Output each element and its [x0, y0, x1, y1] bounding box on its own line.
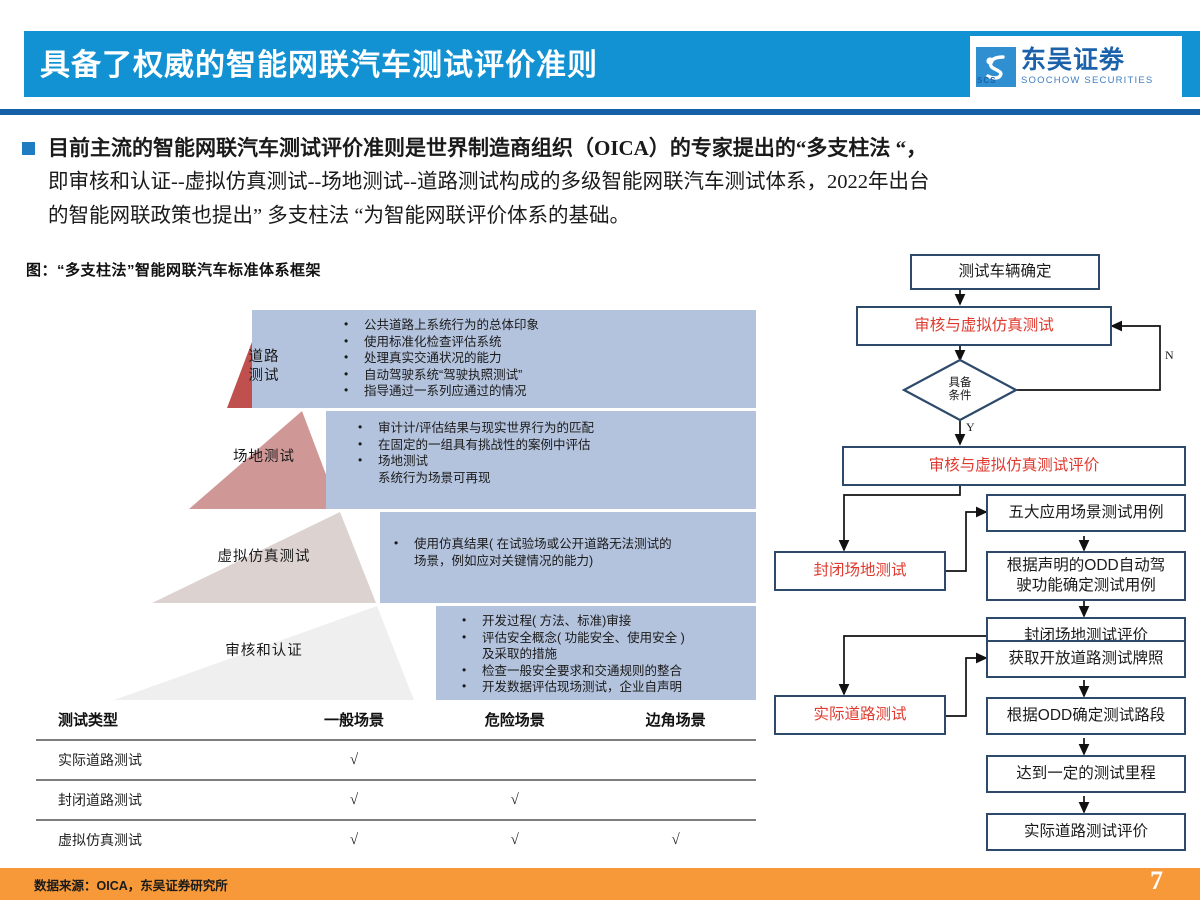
cell-type: 虚拟仿真测试 [36, 820, 274, 859]
decision-label-line2: 条件 [949, 390, 972, 403]
flow-node-mileage[interactable]: 达到一定的测试里程 [986, 755, 1186, 793]
cell-general: √ [274, 740, 435, 780]
flow-node-odd-segment[interactable]: 根据ODD确定测试路段 [986, 697, 1186, 735]
list-item: 使用仿真结果( 在试验场或公开道路无法测试的 [388, 536, 748, 553]
list-item: 开发过程( 方法、标准)审接 [456, 613, 756, 630]
column-header-danger: 危险场景 [434, 703, 595, 740]
paragraph-line-3: 的智能网联政策也提出” 多支柱法 “为智能网联评价体系的基础。 [48, 199, 1168, 233]
cell-corner [595, 780, 756, 820]
odd-cases-line1: 根据声明的ODD自动驾 [1007, 556, 1165, 576]
list-item: 开发数据评估现场测试，企业自声明 [456, 679, 756, 696]
list-item: 系统行为场景可再现 [352, 470, 752, 487]
flow-node-five-scenarios[interactable]: 五大应用场景测试用例 [986, 494, 1186, 532]
list-item: 使用标准化检查评估系统 [338, 334, 748, 351]
cell-danger: √ [434, 780, 595, 820]
flow-node-license[interactable]: 获取开放道路测试牌照 [986, 640, 1186, 678]
pyramid-level-3-points: 使用仿真结果( 在试验场或公开道路无法测试的 场景，例如应对关键情况的能力) [388, 536, 748, 569]
brand-logo: 东吴证劵 SOOCHOW SECURITIES [970, 36, 1182, 98]
page-number: 7 [1150, 866, 1163, 896]
footer-source: 数据来源：OICA，东吴证券研究所 [34, 875, 228, 894]
table-row: 封闭道路测试 √ √ [36, 780, 756, 820]
cell-danger: √ [434, 820, 595, 859]
flow-node-vehicle[interactable]: 测试车辆确定 [910, 254, 1100, 290]
flow-node-odd-cases[interactable]: 根据声明的ODD自动驾 驶功能确定测试用例 [986, 551, 1186, 601]
cell-general: √ [274, 820, 435, 859]
brand-name-en: SOOCHOW SECURITIES [1021, 76, 1153, 86]
cell-general: √ [274, 780, 435, 820]
list-item: 处理真实交通状况的能力 [338, 350, 748, 367]
column-header-type: 测试类型 [36, 703, 274, 740]
list-item: 检查一般安全要求和交通规则的整合 [456, 663, 756, 680]
slide-root: 具备了权威的智能网联汽车测试评价准则 东吴证劵 SOOCHOW SECURITI… [0, 0, 1200, 900]
cell-corner [595, 740, 756, 780]
odd-cases-line2: 驶功能确定测试用例 [1016, 576, 1156, 596]
flow-node-audit-sim-test[interactable]: 审核与虚拟仿真测试 [856, 306, 1112, 346]
figure-caption: 图：“多支柱法”智能网联汽车标准体系框架 [26, 259, 321, 280]
pyramid-level-1-label-line1: 道路 [214, 348, 314, 367]
list-item: 及采取的措施 [456, 646, 756, 663]
header-divider [0, 109, 1200, 115]
body-paragraph: 目前主流的智能网联汽车测试评价准则是世界制造商组织（OICA）的专家提出的“多支… [48, 131, 1168, 233]
brand-text: 东吴证劵 SOOCHOW SECURITIES [1021, 48, 1153, 86]
cell-type: 封闭道路测试 [36, 780, 274, 820]
pyramid-level-1-label: 道路 测试 [214, 348, 314, 386]
pyramid-level-1-label-line2: 测试 [214, 367, 314, 386]
pyramid-level-4-label: 审核和认证 [154, 642, 374, 661]
edge-label-no: N [1165, 348, 1174, 363]
flow-node-decision[interactable]: 具备 条件 [928, 374, 992, 406]
list-item: 指导通过一系列应通过的情况 [338, 383, 748, 400]
paragraph-line-1: 目前主流的智能网联汽车测试评价准则是世界制造商组织（OICA）的专家提出的“多支… [48, 131, 1168, 165]
cell-type: 实际道路测试 [36, 740, 274, 780]
column-header-general: 一般场景 [274, 703, 435, 740]
list-item: 在固定的一组具有挑战性的案例中评估 [352, 437, 752, 454]
bullet-square-icon [22, 142, 35, 155]
flowchart: 测试车辆确定 审核与虚拟仿真测试 具备 条件 N Y 审核与虚拟仿真测试评价 封… [760, 248, 1190, 878]
list-item: 评估安全概念( 功能安全、使用安全 ) [456, 630, 756, 647]
table-row: 实际道路测试 √ [36, 740, 756, 780]
list-item: 公共道路上系统行为的总体印象 [338, 317, 748, 334]
list-item: 审计计/评估结果与现实世界行为的匹配 [352, 420, 752, 437]
flow-node-real-road-test[interactable]: 实际道路测试 [774, 695, 946, 735]
paragraph-line-2: 即审核和认证--虚拟仿真测试--场地测试--道路测试构成的多级智能网联汽车测试体… [48, 165, 1168, 199]
brand-abbr: SCS [977, 76, 996, 85]
pyramid-level-2-points: 审计计/评估结果与现实世界行为的匹配 在固定的一组具有挑战性的案例中评估 场地测… [352, 420, 752, 486]
pyramid-diagram: 道路 测试 场地测试 虚拟仿真测试 审核和认证 公共道路上系统行为的总体印象 使… [36, 310, 756, 700]
table-row: 虚拟仿真测试 √ √ √ [36, 820, 756, 859]
pyramid-level-1-points: 公共道路上系统行为的总体印象 使用标准化检查评估系统 处理真实交通状况的能力 自… [338, 317, 748, 400]
cell-danger [434, 740, 595, 780]
list-item: 场地测试 [352, 453, 752, 470]
flow-node-real-road-eval[interactable]: 实际道路测试评价 [986, 813, 1186, 851]
cell-corner: √ [595, 820, 756, 859]
pyramid-level-2-label: 场地测试 [194, 448, 334, 467]
edge-label-yes: Y [966, 420, 975, 435]
list-item: 场景，例如应对关键情况的能力) [388, 553, 748, 570]
flow-node-closed-field-test[interactable]: 封闭场地测试 [774, 551, 946, 591]
pyramid-level-4-points: 开发过程( 方法、标准)审接 评估安全概念( 功能安全、使用安全 ) 及采取的措… [456, 613, 756, 696]
flow-node-audit-sim-eval[interactable]: 审核与虚拟仿真测试评价 [842, 446, 1186, 486]
decision-label-line1: 具备 [949, 377, 972, 390]
page-title: 具备了权威的智能网联汽车测试评价准则 [40, 44, 940, 88]
list-item: 自动驾驶系统“驾驶执照测试” [338, 367, 748, 384]
scenario-matrix-table: 测试类型 一般场景 危险场景 边角场景 实际道路测试 √ 封闭道路测试 √ √ [36, 703, 756, 859]
brand-name-cn: 东吴证劵 [1021, 48, 1153, 73]
table-header-row: 测试类型 一般场景 危险场景 边角场景 [36, 703, 756, 740]
pyramid-level-3-label: 虚拟仿真测试 [174, 548, 354, 567]
column-header-corner: 边角场景 [595, 703, 756, 740]
